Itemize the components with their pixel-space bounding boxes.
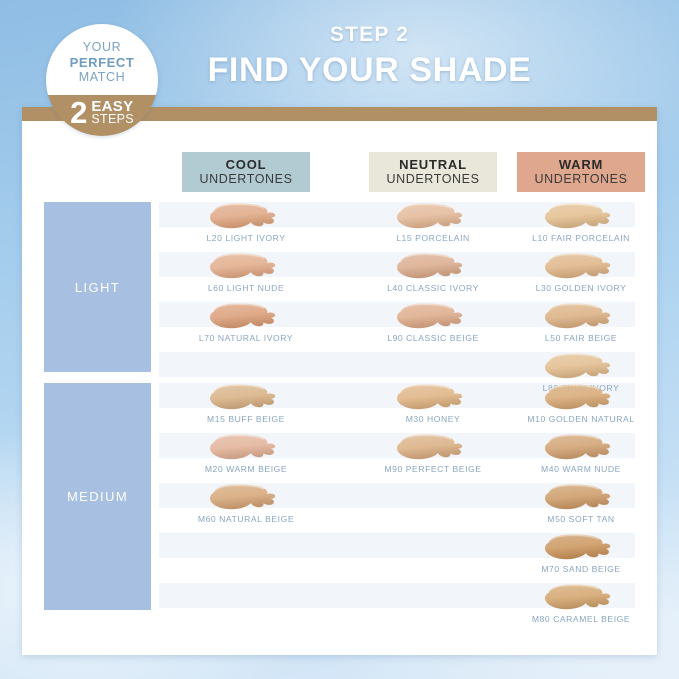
shade-swatch-icon [542,433,620,463]
shade-cell[interactable]: L90 CLASSIC BEIGE [354,302,512,343]
shade-swatch-icon [394,383,472,413]
shade-swatch-icon [542,533,620,563]
column-header-cool-sub: UNDERTONES [199,172,292,187]
shade-label: M40 WARM NUDE [541,464,621,474]
shade-cell[interactable]: M40 WARM NUDE [502,433,660,474]
shade-cell[interactable]: M10 GOLDEN NATURAL [502,383,660,424]
tone-group-light: LIGHT [44,202,151,372]
shade-swatch-icon [542,352,620,382]
shade-cell[interactable]: L50 FAIR BEIGE [502,302,660,343]
tone-group-medium-label: MEDIUM [67,489,128,504]
badge-line-your: YOUR [83,40,122,55]
shade-label: M70 SAND BEIGE [541,564,620,574]
shade-label: M50 SOFT TAN [547,514,614,524]
shade-label: L40 CLASSIC IVORY [387,283,479,293]
shade-label: M30 HONEY [406,414,461,424]
badge-line-perfect: PERFECT [70,55,135,70]
shade-swatch-icon [394,433,472,463]
shade-swatch-icon [542,383,620,413]
shade-swatch-icon [207,383,285,413]
column-header-neutral-name: NEUTRAL [399,157,467,172]
shade-label: L30 GOLDEN IVORY [536,283,627,293]
shade-swatch-icon [207,202,285,232]
badge-step-number: 2 [70,98,87,128]
badge-step-words: EASY STEPS [91,100,134,126]
shade-cell[interactable]: L20 LIGHT IVORY [167,202,325,243]
shade-swatch-icon [207,302,285,332]
column-header-cool: COOL UNDERTONES [182,152,310,192]
shade-cell[interactable]: L15 PORCELAIN [354,202,512,243]
shade-cell[interactable]: M15 BUFF BEIGE [167,383,325,424]
tone-group-light-label: LIGHT [75,280,120,295]
shade-grid: COOL UNDERTONES NEUTRAL UNDERTONES WARM … [22,121,657,655]
shade-swatch-icon [207,483,285,513]
shade-swatch-icon [542,583,620,613]
shade-label: M20 WARM BEIGE [205,464,287,474]
shade-label: L20 LIGHT IVORY [206,233,285,243]
shade-label: L60 LIGHT NUDE [208,283,284,293]
shade-cell[interactable]: M60 NATURAL BEIGE [167,483,325,524]
shade-label: L15 PORCELAIN [396,233,470,243]
shade-label: M60 NATURAL BEIGE [198,514,294,524]
shade-swatch-icon [542,252,620,282]
shade-cell[interactable]: M50 SOFT TAN [502,483,660,524]
shade-label: M10 GOLDEN NATURAL [527,414,634,424]
shade-label: L70 NATURAL IVORY [199,333,293,343]
shade-cell[interactable]: L70 NATURAL IVORY [167,302,325,343]
badge-bottom-half: 2 EASY STEPS [46,95,158,136]
shade-swatch-icon [394,202,472,232]
badge-top-half: YOUR PERFECT MATCH [46,24,158,95]
tone-group-medium: MEDIUM [44,383,151,610]
column-header-warm: WARM UNDERTONES [517,152,645,192]
column-header-warm-name: WARM [559,157,603,172]
shade-cell[interactable]: L30 GOLDEN IVORY [502,252,660,293]
shade-label: M80 CARAMEL BEIGE [532,614,630,624]
shade-cell[interactable]: M80 CARAMEL BEIGE [502,583,660,624]
badge-line-match: MATCH [79,70,126,85]
column-header-neutral: NEUTRAL UNDERTONES [369,152,497,192]
shade-label: L90 CLASSIC BEIGE [387,333,479,343]
shade-cell[interactable]: M90 PERFECT BEIGE [354,433,512,474]
shade-cell[interactable]: M20 WARM BEIGE [167,433,325,474]
shade-swatch-icon [207,252,285,282]
shade-swatch-icon [207,433,285,463]
shade-cell[interactable]: L60 LIGHT NUDE [167,252,325,293]
shade-cell[interactable]: M70 SAND BEIGE [502,533,660,574]
shade-label: M90 PERFECT BEIGE [384,464,481,474]
shade-cell[interactable]: L10 FAIR PORCELAIN [502,202,660,243]
shade-swatch-icon [542,202,620,232]
column-header-neutral-sub: UNDERTONES [386,172,479,187]
shade-swatch-icon [394,252,472,282]
shade-cell[interactable]: L40 CLASSIC IVORY [354,252,512,293]
shade-label: L10 FAIR PORCELAIN [532,233,630,243]
column-header-cool-name: COOL [226,157,267,172]
column-headers: COOL UNDERTONES NEUTRAL UNDERTONES WARM … [22,152,657,192]
shade-label: M15 BUFF BEIGE [207,414,285,424]
perfect-match-badge: YOUR PERFECT MATCH 2 EASY STEPS [46,24,158,136]
badge-word-steps: STEPS [91,113,134,126]
shade-label: L50 FAIR BEIGE [545,333,617,343]
shade-swatch-icon [394,302,472,332]
shade-cell[interactable]: M30 HONEY [354,383,512,424]
shade-swatch-icon [542,302,620,332]
shade-chart-card: COOL UNDERTONES NEUTRAL UNDERTONES WARM … [22,107,657,655]
column-header-warm-sub: UNDERTONES [534,172,627,187]
shade-swatch-icon [542,483,620,513]
